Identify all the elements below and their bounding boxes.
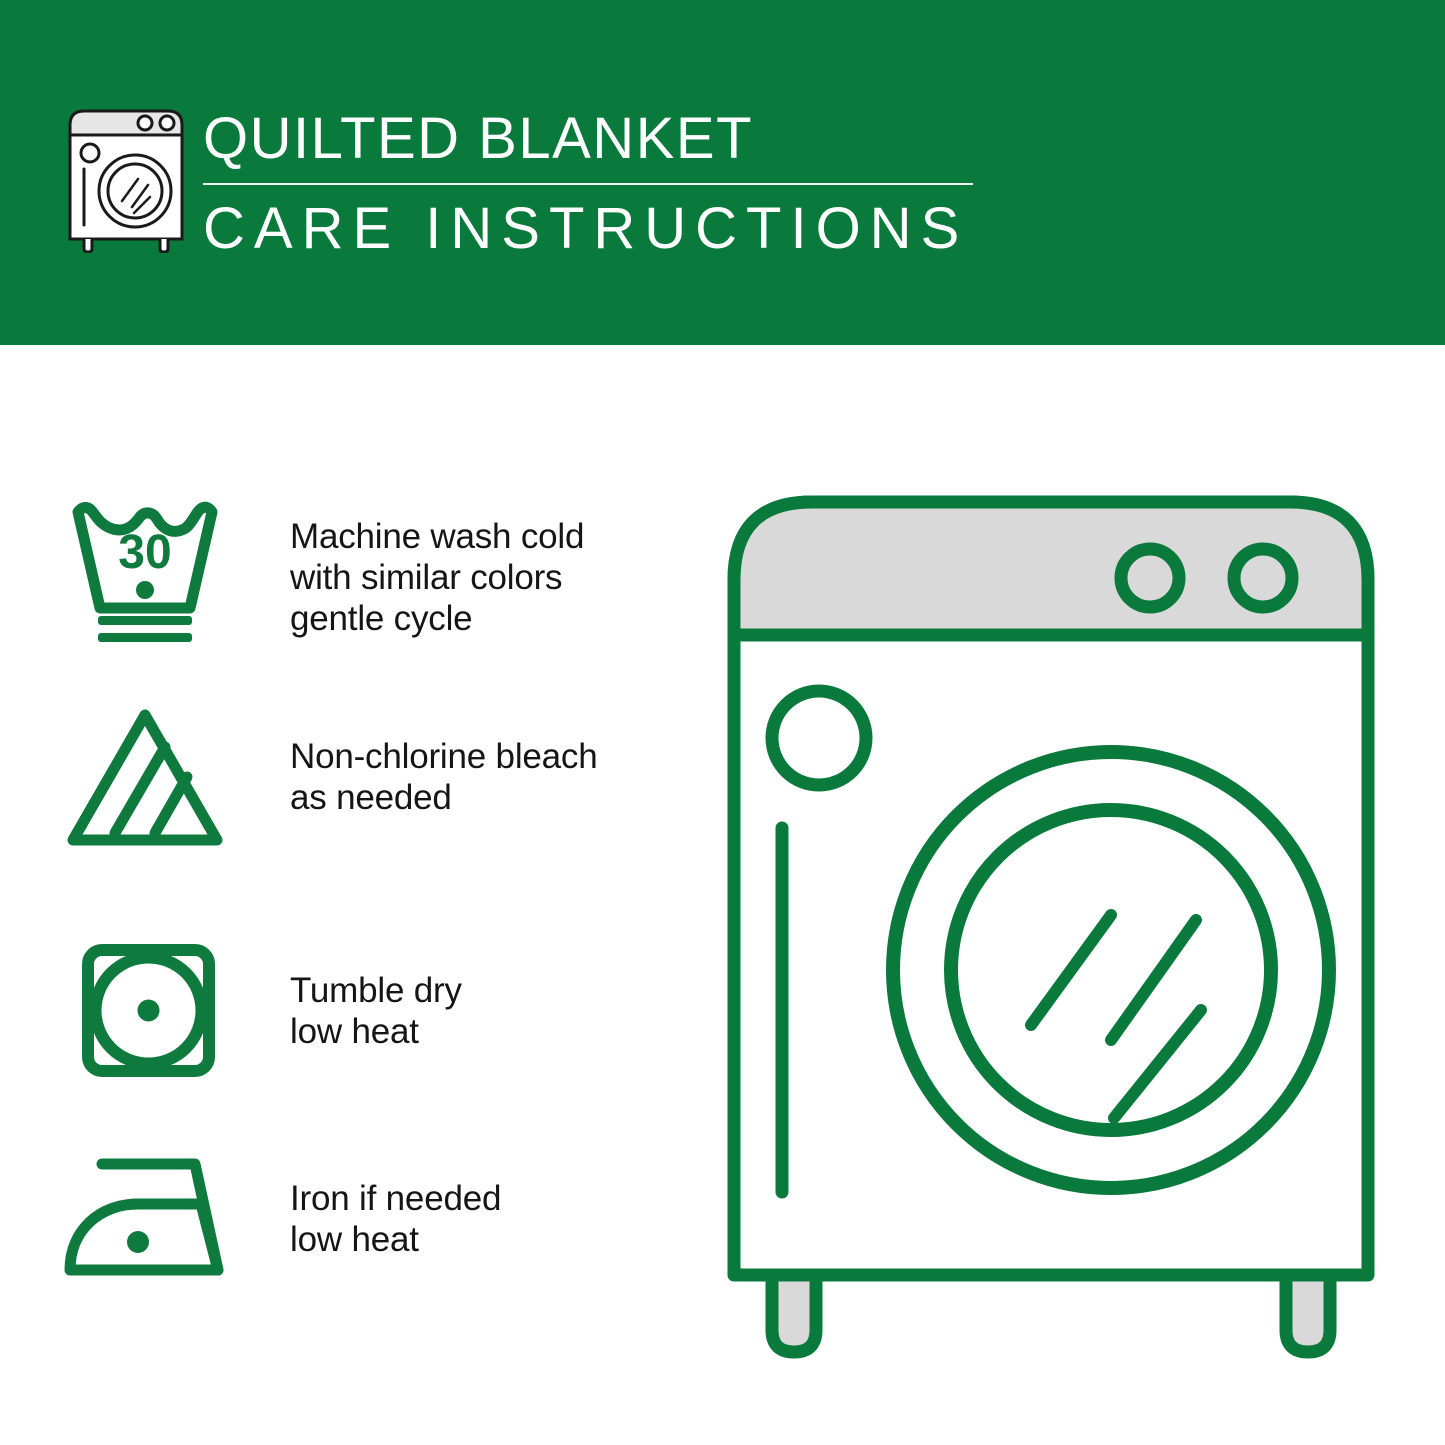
care-row-machine-wash: 30 Machine wash cold with similar colors… (60, 498, 700, 658)
knob (1234, 549, 1292, 607)
care-text-machine-wash: Machine wash cold with similar colors ge… (290, 516, 584, 639)
leg (1286, 1275, 1330, 1352)
iron-low-heat-icon (60, 1152, 235, 1287)
tumble-dry-low-heat-icon (60, 943, 230, 1083)
front-load-washing-machine-illustration (716, 480, 1386, 1360)
title-divider (203, 183, 973, 185)
header-band: QUILTED BLANKET CARE INSTRUCTIONS (0, 0, 1445, 345)
non-chlorine-bleach-triangle-icon (60, 705, 230, 855)
washing-machine-icon (62, 103, 190, 253)
page-subtitle: CARE INSTRUCTIONS (203, 195, 993, 263)
knob (1121, 549, 1179, 607)
header-text-block: QUILTED BLANKET CARE INSTRUCTIONS (203, 104, 993, 263)
care-text-tumble-dry: Tumble dry low heat (290, 970, 462, 1052)
wash-temp-label: 30 (118, 526, 171, 579)
page-title: QUILTED BLANKET (203, 104, 993, 174)
care-row-iron: Iron if needed low heat (60, 1152, 700, 1287)
care-text-iron: Iron if needed low heat (290, 1178, 501, 1260)
leg (772, 1275, 816, 1352)
care-text-bleach: Non-chlorine bleach as needed (290, 736, 598, 818)
door-inner-ring (951, 810, 1271, 1130)
wash-tub-30-gentle-icon: 30 (60, 498, 230, 658)
dispenser-circle (772, 691, 866, 785)
care-row-bleach: Non-chlorine bleach as needed (60, 705, 700, 855)
care-row-tumble-dry: Tumble dry low heat (60, 943, 700, 1083)
care-instructions-infographic: QUILTED BLANKET CARE INSTRUCTIONS 30 Mac… (0, 0, 1445, 1445)
